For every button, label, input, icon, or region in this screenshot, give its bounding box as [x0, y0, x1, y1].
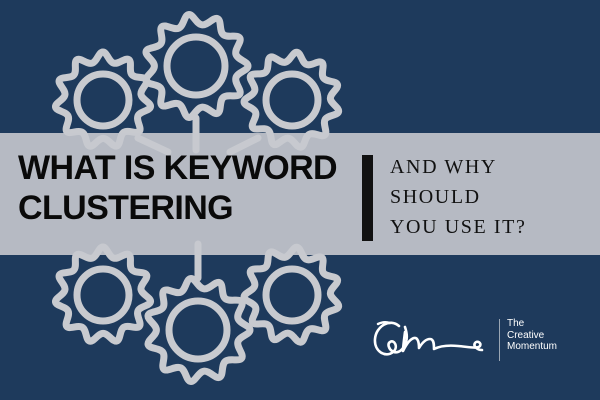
subheading-line-2: SHOULD: [390, 182, 590, 212]
subheading-line-3: YOU USE IT?: [390, 212, 590, 242]
headline-line-2: CLUSTERING: [18, 188, 363, 228]
subheading-block: AND WHY SHOULD YOU USE IT?: [390, 152, 590, 242]
subheading-line-1: AND WHY: [390, 152, 590, 182]
headline-line-1: WHAT IS KEYWORD: [18, 148, 363, 188]
headline-block: WHAT IS KEYWORD CLUSTERING: [18, 148, 363, 228]
vertical-divider-bar: [362, 155, 373, 241]
featured-image-banner: WHAT IS KEYWORD CLUSTERING AND WHY SHOUL…: [0, 0, 600, 400]
logo-wordmark: The Creative Momentum: [507, 318, 557, 353]
text-layer: WHAT IS KEYWORD CLUSTERING AND WHY SHOUL…: [0, 0, 600, 400]
logo-word-the: The: [507, 318, 557, 330]
logo-divider-rule: [499, 319, 500, 361]
logo-word-momentum: Momentum: [507, 341, 557, 353]
cm-signature-mark-icon: [368, 312, 493, 368]
brand-logo-lockup: The Creative Momentum: [368, 310, 583, 372]
logo-word-creative: Creative: [507, 330, 557, 342]
